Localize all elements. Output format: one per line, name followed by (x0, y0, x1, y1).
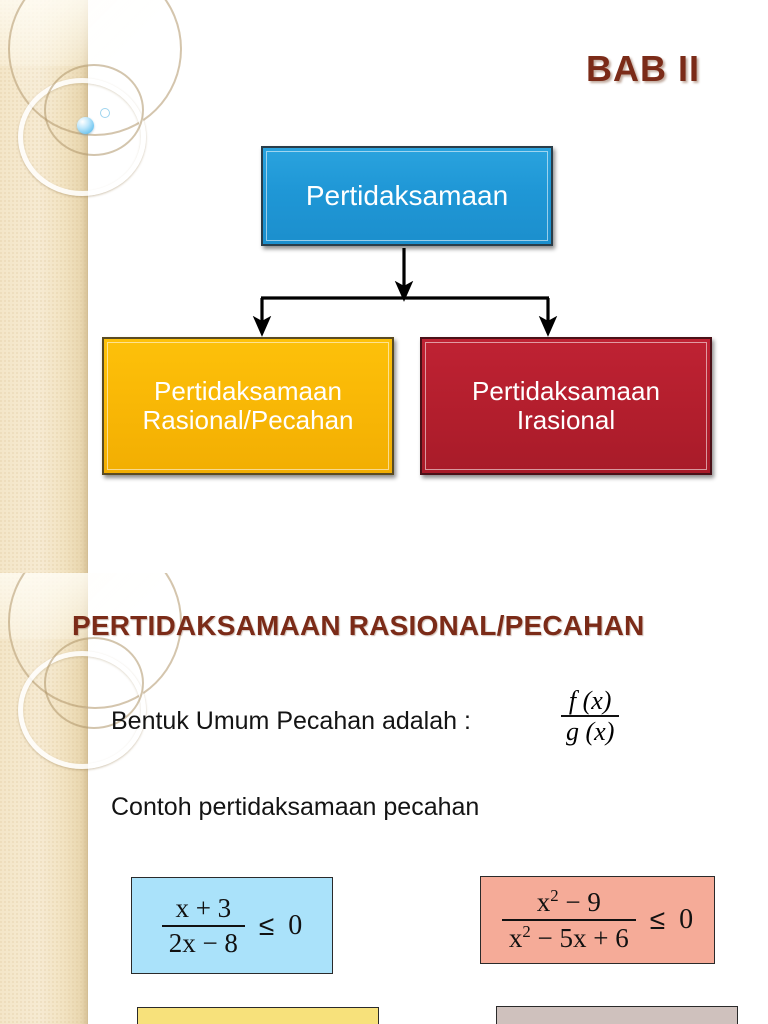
right-hand-side: 0 (288, 910, 302, 942)
example-box-blue[interactable]: x + 3 2x − 8 ≤ 0 (131, 877, 333, 974)
example-fraction: x + 3 2x − 8 (162, 894, 245, 957)
numerator-rest: − 9 (559, 887, 601, 917)
slide-deck-canvas: BAB II Pertidaksamaan P (0, 0, 768, 1024)
node-line-2: Irasional (517, 405, 615, 435)
node-line-1: Pertidaksamaan (472, 376, 660, 406)
bentuk-umum-text: Bentuk Umum Pecahan adalah : (111, 707, 471, 736)
slide-2: PERTIDAKSAMAAN RASIONAL/PECAHAN Bentuk U… (0, 573, 768, 1024)
relation-operator: ≤ (259, 910, 274, 942)
contoh-text: Contoh pertidaksamaan pecahan (111, 793, 479, 822)
sidebar-bubble-icon (77, 117, 94, 134)
sidebar-bubble-small-icon (100, 108, 110, 118)
decorative-sidebar (0, 0, 88, 573)
node-line-2: Rasional/Pecahan (142, 405, 353, 435)
diagram-node-irasional[interactable]: Pertidaksamaan Irasional (420, 337, 712, 475)
example-expression: x + 3 2x − 8 ≤ 0 (162, 894, 303, 957)
diagram-node-root[interactable]: Pertidaksamaan (261, 146, 553, 246)
fraction-denominator: x2 − 5x + 6 (502, 919, 636, 953)
example-box-pink[interactable]: x2 − 9 x2 − 5x + 6 ≤ 0 (480, 876, 715, 964)
fraction-denominator: 2x − 8 (162, 925, 245, 958)
example-fraction: x2 − 9 x2 − 5x + 6 (502, 887, 636, 952)
relation-operator: ≤ (650, 904, 665, 936)
sidebar-ring-thin-icon (44, 64, 144, 156)
example-expression: x2 − 9 x2 − 5x + 6 ≤ 0 (502, 887, 693, 952)
slide-1: BAB II Pertidaksamaan P (0, 0, 768, 573)
page-title: BAB II (586, 48, 700, 90)
example-box-yellow[interactable] (137, 1007, 379, 1024)
section-title: PERTIDAKSAMAAN RASIONAL/PECAHAN (72, 610, 644, 642)
numerator-exponent: 2 (550, 886, 558, 905)
diagram-node-irasional-label: Pertidaksamaan Irasional (464, 377, 668, 435)
example-box-mauve[interactable] (496, 1006, 738, 1024)
fraction-numerator: f (x) (564, 687, 617, 715)
fraction-numerator: x2 − 9 (530, 887, 608, 919)
denominator-base: x (509, 923, 523, 953)
bentuk-umum-fraction: f (x) g (x) (561, 687, 619, 746)
numerator-base: x (537, 887, 551, 917)
node-line-1: Pertidaksamaan (154, 376, 342, 406)
diagram-node-root-label: Pertidaksamaan (298, 180, 516, 211)
fraction-denominator: g (x) (561, 715, 619, 745)
right-hand-side: 0 (679, 904, 693, 936)
diagram-node-rasional[interactable]: Pertidaksamaan Rasional/Pecahan (102, 337, 394, 475)
diagram-node-rasional-label: Pertidaksamaan Rasional/Pecahan (134, 377, 361, 435)
fraction-numerator: x + 3 (168, 894, 238, 925)
denominator-exponent: 2 (522, 922, 530, 941)
denominator-rest: − 5x + 6 (531, 923, 629, 953)
